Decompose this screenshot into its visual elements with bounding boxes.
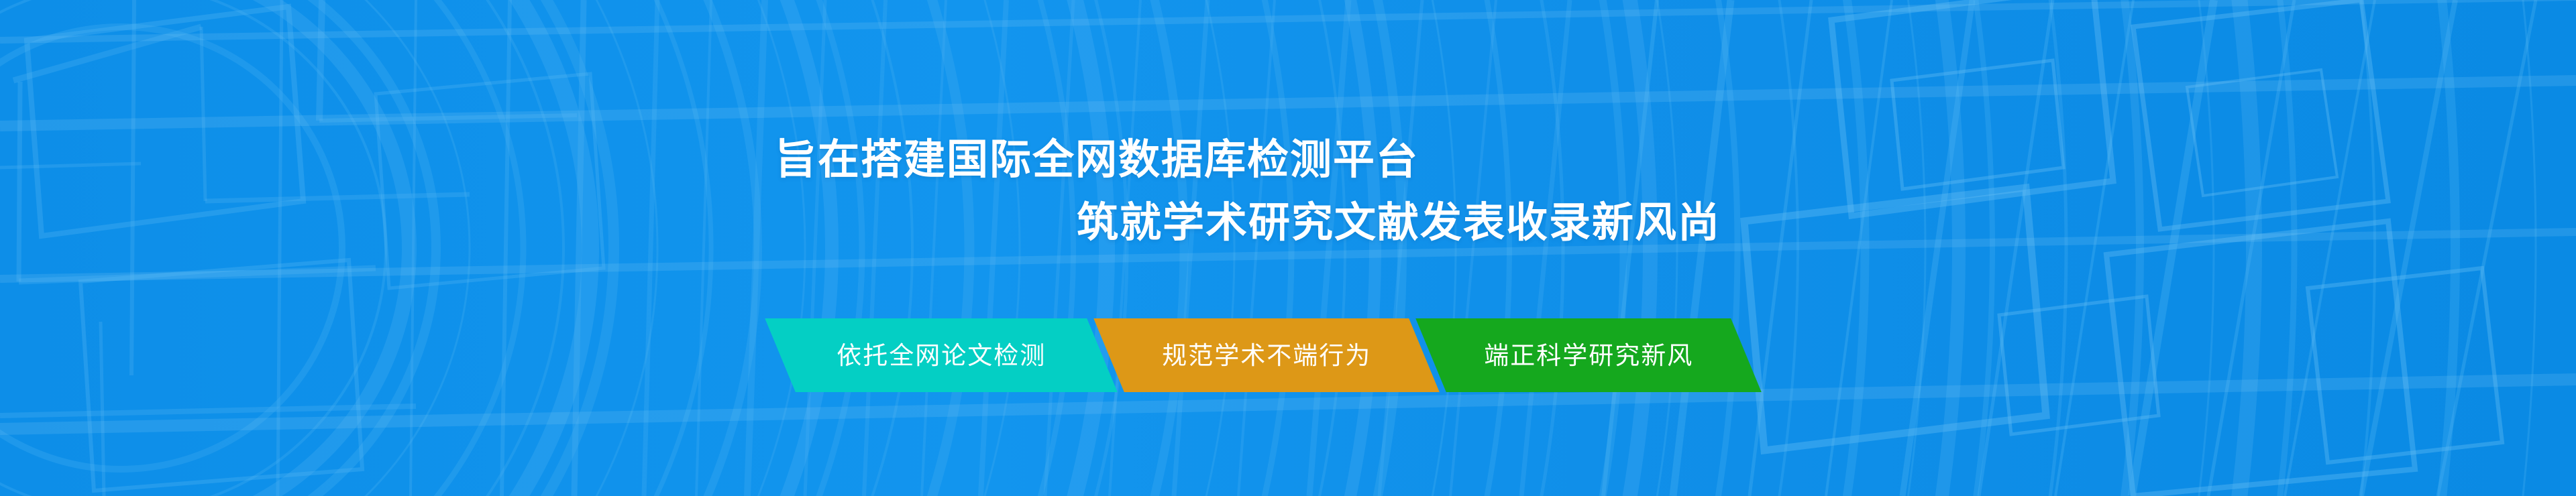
headline-line-2: 筑就学术研究文献发表收录新风尚 — [1077, 199, 1721, 247]
promo-banner: 旨在搭建国际全网数据库检测平台 筑就学术研究文献发表收录新风尚 依托全网论文检测… — [0, 0, 2576, 496]
feature-tag-misconduct[interactable]: 规范学术不端行为 — [1093, 318, 1440, 392]
feature-tag-research-ethics[interactable]: 端正科学研究新风 — [1415, 318, 1762, 392]
headline-block: 旨在搭建国际全网数据库检测平台 筑就学术研究文献发表收录新风尚 — [0, 0, 2576, 496]
feature-tag-strip: 依托全网论文检测 规范学术不端行为 端正科学研究新风 — [780, 318, 1746, 392]
feature-tag-label: 依托全网论文检测 — [837, 343, 1046, 368]
feature-tag-paper-detection[interactable]: 依托全网论文检测 — [765, 318, 1118, 392]
headline-line-1: 旨在搭建国际全网数据库检测平台 — [775, 136, 1419, 184]
feature-tag-label: 端正科学研究新风 — [1484, 343, 1693, 368]
feature-tag-label: 规范学术不端行为 — [1162, 343, 1371, 368]
